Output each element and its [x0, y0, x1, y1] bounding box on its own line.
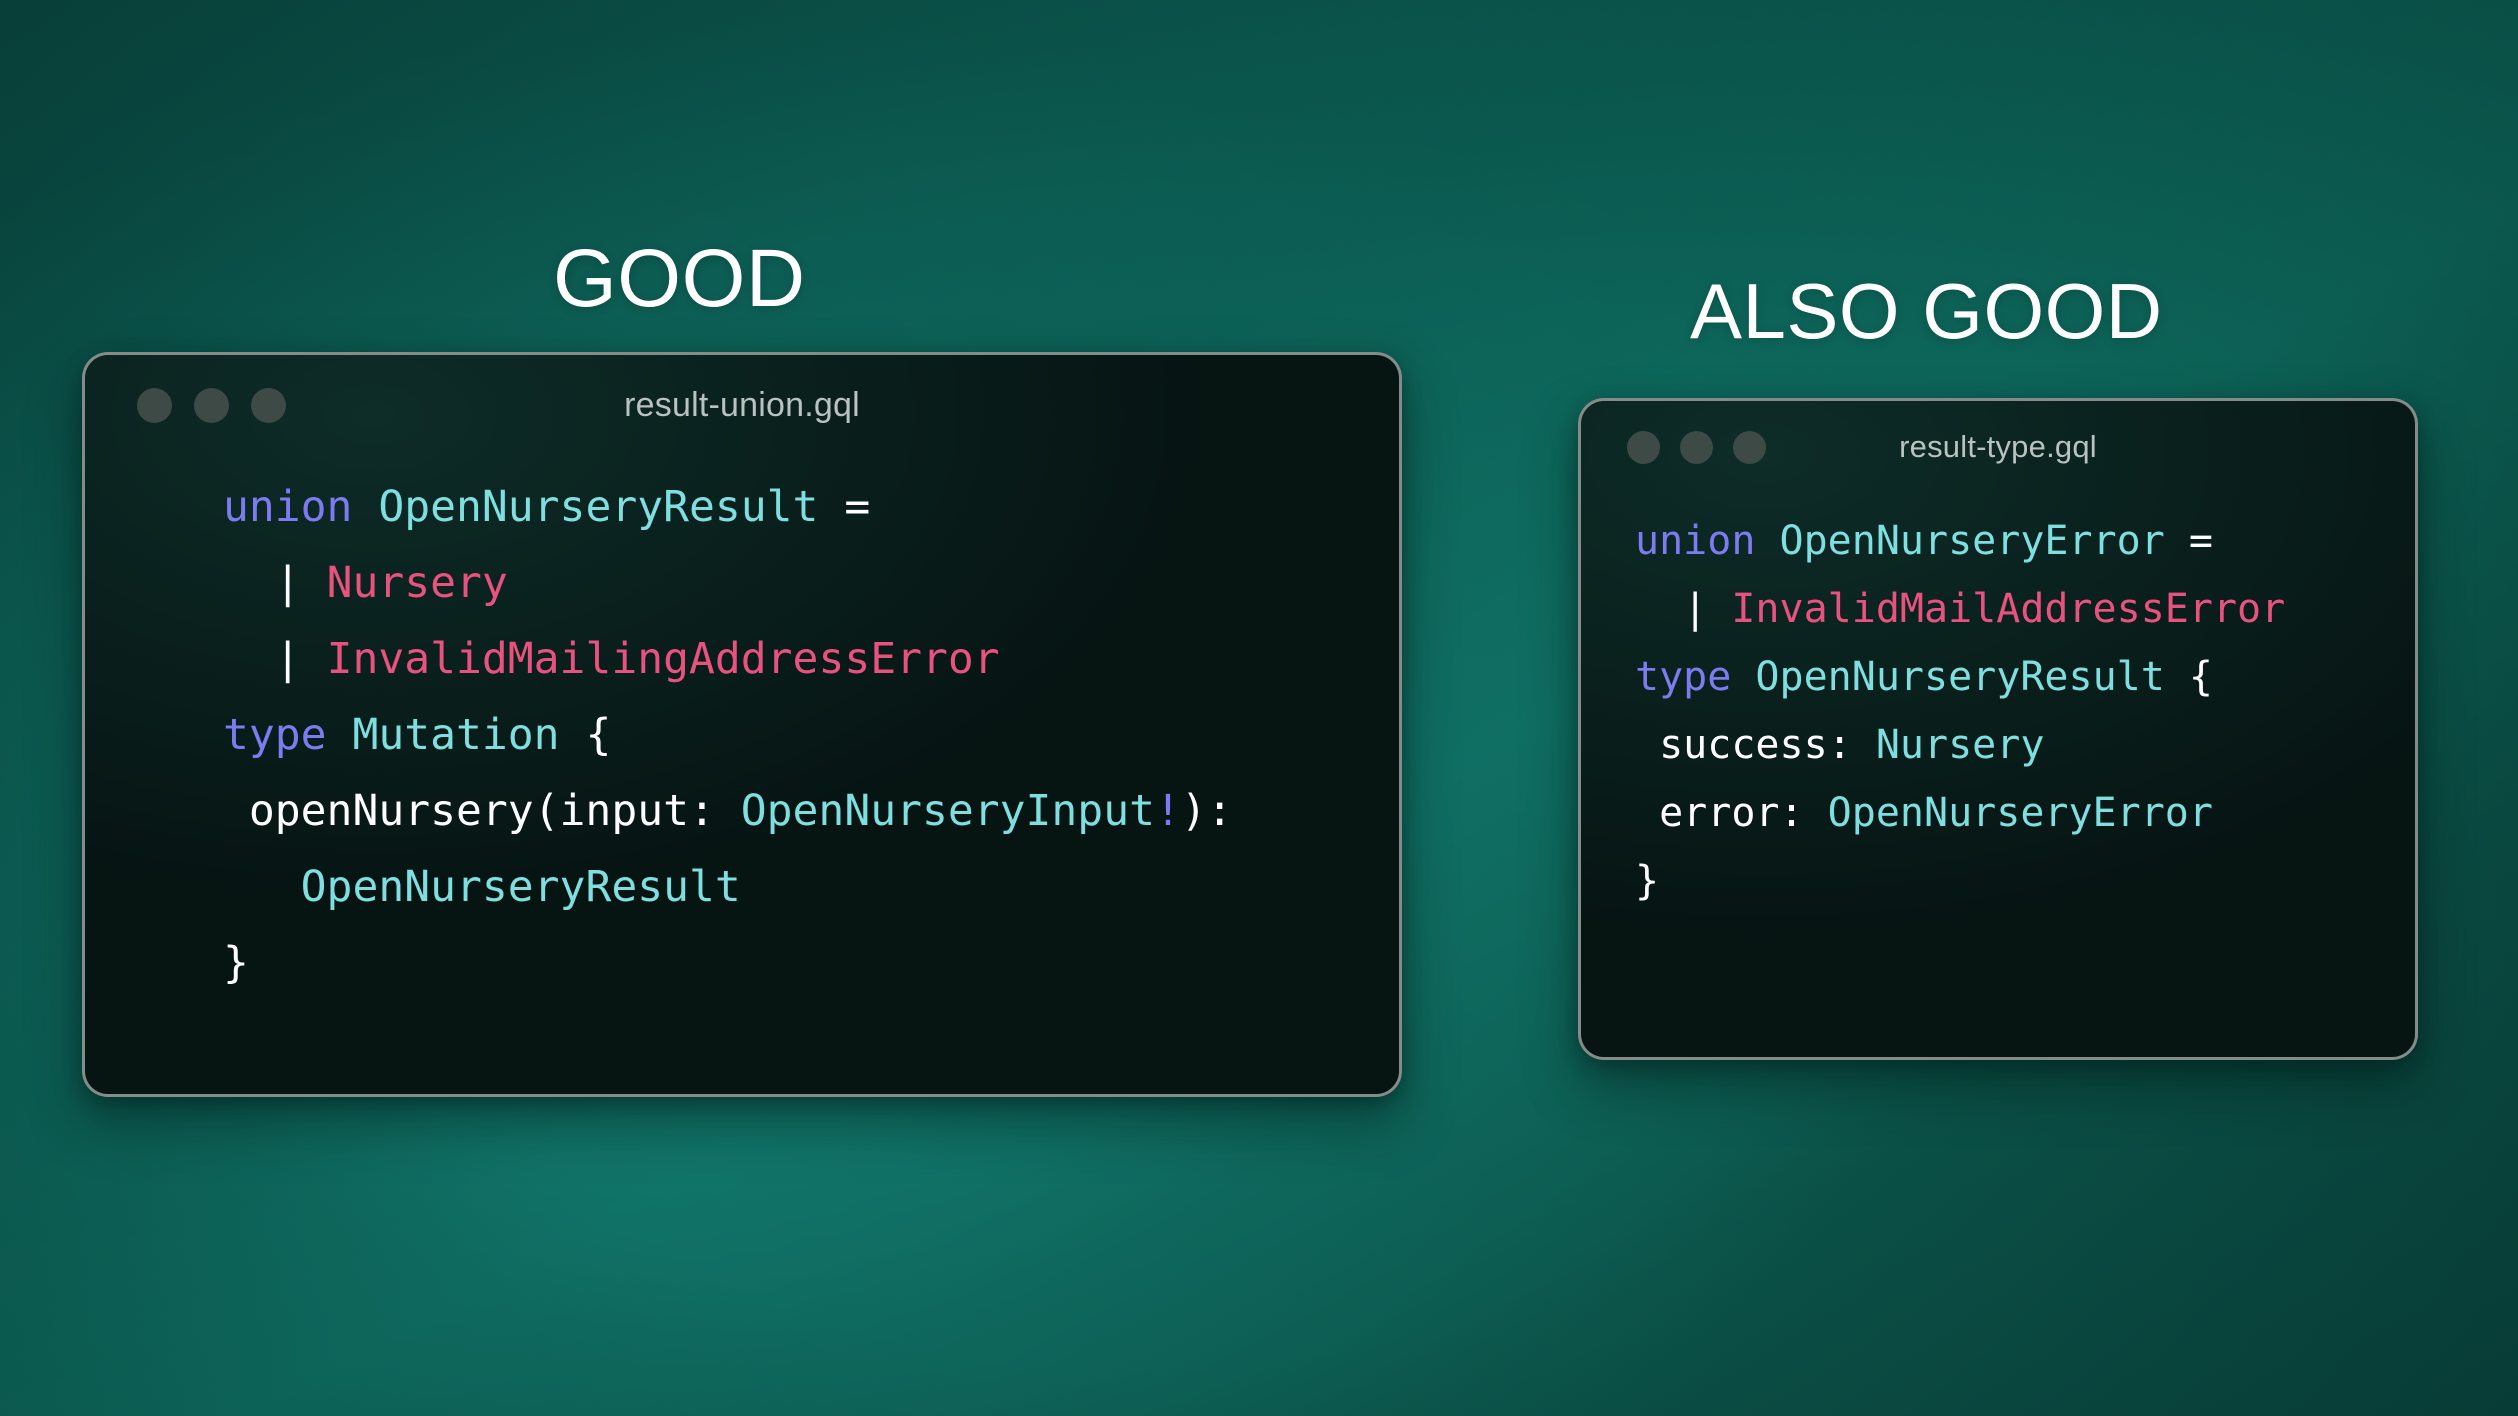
window-traffic-lights: [137, 388, 286, 423]
window-titlebar: result-type.gql: [1581, 401, 2415, 493]
code-line: union OpenNurseryResult =: [223, 469, 1399, 545]
code-token-plain: {: [2165, 654, 2213, 700]
code-token-kw: !: [1155, 786, 1181, 836]
code-token-plain: =: [818, 482, 896, 532]
slide-stage: GOOD result-union.gql union OpenNurseryR…: [0, 0, 2518, 1416]
code-block-type: union OpenNurseryError = | InvalidMailAd…: [1581, 493, 2415, 915]
code-token-kw: type: [223, 710, 327, 760]
code-token-kw: type: [1635, 654, 1731, 700]
code-token-plain: success:: [1635, 722, 1876, 768]
code-token-plain: openNursery(input:: [223, 786, 741, 836]
window-titlebar: result-union.gql: [85, 355, 1399, 455]
code-line: | Nursery: [223, 545, 1399, 621]
window-traffic-lights: [1627, 431, 1766, 464]
code-line: }: [223, 925, 1399, 1001]
code-token-plain: =: [2165, 518, 2237, 564]
heading-good: GOOD: [553, 238, 806, 320]
code-line: error: OpenNurseryError: [1635, 779, 2415, 847]
code-token-type: OpenNurseryError: [1828, 790, 2213, 836]
code-token-plain: {: [560, 710, 612, 760]
code-token-kw: union: [223, 482, 352, 532]
code-token-plain: [1731, 654, 1755, 700]
close-dot-icon[interactable]: [1627, 431, 1660, 464]
code-token-type: OpenNurseryResult: [1755, 654, 2164, 700]
code-line: type OpenNurseryResult {: [1635, 643, 2415, 711]
code-token-type: OpenNurseryInput: [741, 786, 1155, 836]
code-line: | InvalidMailAddressError: [1635, 575, 2415, 643]
code-token-plain: ):: [1181, 786, 1233, 836]
code-line: OpenNurseryResult: [223, 849, 1399, 925]
maximize-dot-icon[interactable]: [251, 388, 286, 423]
code-token-err: Nursery: [327, 558, 508, 608]
code-token-kw: union: [1635, 518, 1755, 564]
code-token-type: OpenNurseryResult: [378, 482, 818, 532]
code-token-plain: }: [1635, 858, 1659, 904]
code-token-err: InvalidMailingAddressError: [327, 634, 1000, 684]
code-line: }: [1635, 847, 2415, 915]
code-token-type: Mutation: [352, 710, 559, 760]
code-token-plain: |: [1635, 586, 1731, 632]
code-token-plain: }: [223, 938, 249, 988]
code-token-type: Nursery: [1876, 722, 2045, 768]
code-token-type: OpenNurseryResult: [301, 862, 741, 912]
code-line: union OpenNurseryError =: [1635, 507, 2415, 575]
code-window-union: result-union.gql union OpenNurseryResult…: [82, 352, 1402, 1097]
code-line: | InvalidMailingAddressError: [223, 621, 1399, 697]
code-block-union: union OpenNurseryResult = | Nursery | In…: [85, 455, 1399, 1001]
code-token-err: InvalidMailAddressError: [1731, 586, 2285, 632]
code-token-plain: [352, 482, 378, 532]
minimize-dot-icon[interactable]: [1680, 431, 1713, 464]
code-window-type: result-type.gql union OpenNurseryError =…: [1578, 398, 2418, 1060]
heading-also-good: ALSO GOOD: [1690, 272, 2163, 350]
code-token-plain: error:: [1635, 790, 1828, 836]
code-token-plain: [1755, 518, 1779, 564]
maximize-dot-icon[interactable]: [1733, 431, 1766, 464]
code-token-plain: [327, 710, 353, 760]
close-dot-icon[interactable]: [137, 388, 172, 423]
code-token-plain: [223, 862, 301, 912]
code-token-plain: |: [223, 558, 327, 608]
code-line: openNursery(input: OpenNurseryInput!):: [223, 773, 1399, 849]
minimize-dot-icon[interactable]: [194, 388, 229, 423]
code-token-type: OpenNurseryError: [1780, 518, 2165, 564]
code-line: success: Nursery: [1635, 711, 2415, 779]
code-line: type Mutation {: [223, 697, 1399, 773]
code-token-plain: |: [223, 634, 327, 684]
